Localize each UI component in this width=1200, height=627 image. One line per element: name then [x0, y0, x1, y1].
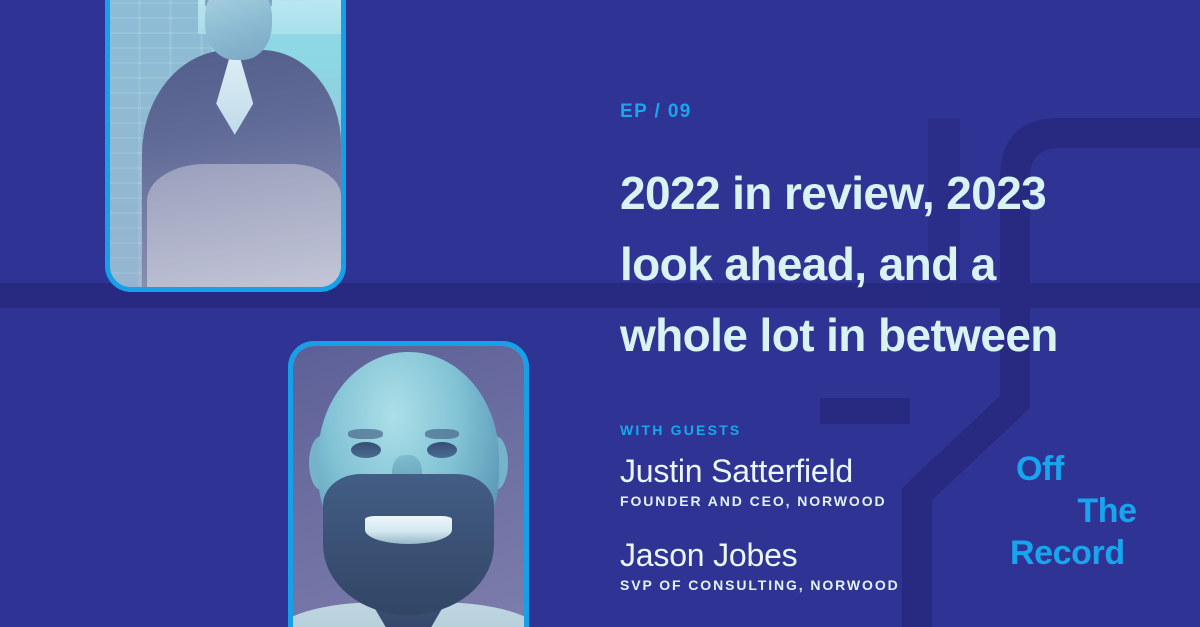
logo-line-the: The — [1010, 490, 1180, 532]
show-logo-off-the-record: Off The Record — [1010, 448, 1180, 574]
episode-number-label: EP / 09 — [620, 101, 692, 123]
title-line-2: look ahead, and a — [620, 229, 1150, 300]
with-guests-heading: WITH GUESTS — [620, 422, 741, 438]
guest-photo-justin-satterfield — [105, 0, 346, 292]
photo-duotone-layer — [110, 0, 341, 287]
logo-line-record: Record — [1010, 532, 1180, 574]
photo-duotone-layer — [293, 346, 524, 627]
title-line-1: 2022 in review, 2023 — [620, 158, 1150, 229]
guest-photo-jason-jobes — [288, 341, 529, 627]
podcast-episode-card: EP / 09 2022 in review, 2023 look ahead,… — [0, 0, 1200, 627]
title-line-3: whole lot in between — [620, 300, 1150, 371]
logo-line-off: Off — [1010, 448, 1180, 490]
episode-title: 2022 in review, 2023 look ahead, and a w… — [620, 158, 1150, 371]
guest-role: SVP OF CONSULTING, NORWOOD — [620, 577, 1180, 593]
